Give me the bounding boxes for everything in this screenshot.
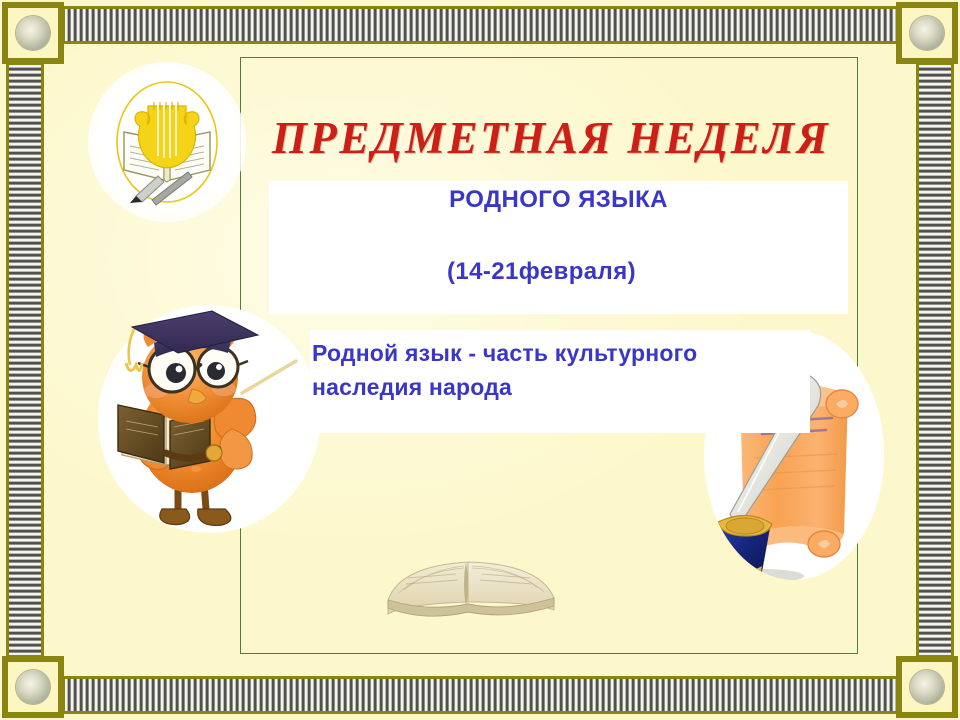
frame-band-right [916,62,954,658]
corner-ornament-top-left [2,2,64,64]
gem-icon [910,16,944,50]
gem-icon [16,16,50,50]
open-book-icon [382,548,560,622]
tagline-text: Родной язык - часть культурного наследия… [312,336,802,404]
frame-band-bottom [62,676,900,714]
scholar-owl-icon [98,305,320,533]
lyre-book-emblem-icon [88,62,246,222]
gem-icon [16,670,50,704]
frame-band-top [62,6,900,44]
corner-ornament-bottom-left [2,656,64,718]
gem-icon [910,670,944,704]
corner-ornament-bottom-right [896,656,958,718]
presentation-slide: ПРЕДМЕТНАЯ НЕДЕЛЯ РОДНОГО ЯЗЫКА (14-21фе… [0,0,960,720]
page-title: ПРЕДМЕТНАЯ НЕДЕЛЯ [256,112,846,164]
frame-band-left [6,62,44,658]
subtitle-line-2-dates: (14-21февраля) [269,258,814,286]
subtitle-line-1: РОДНОГО ЯЗЫКА [269,186,848,214]
corner-ornament-top-right [896,2,958,64]
